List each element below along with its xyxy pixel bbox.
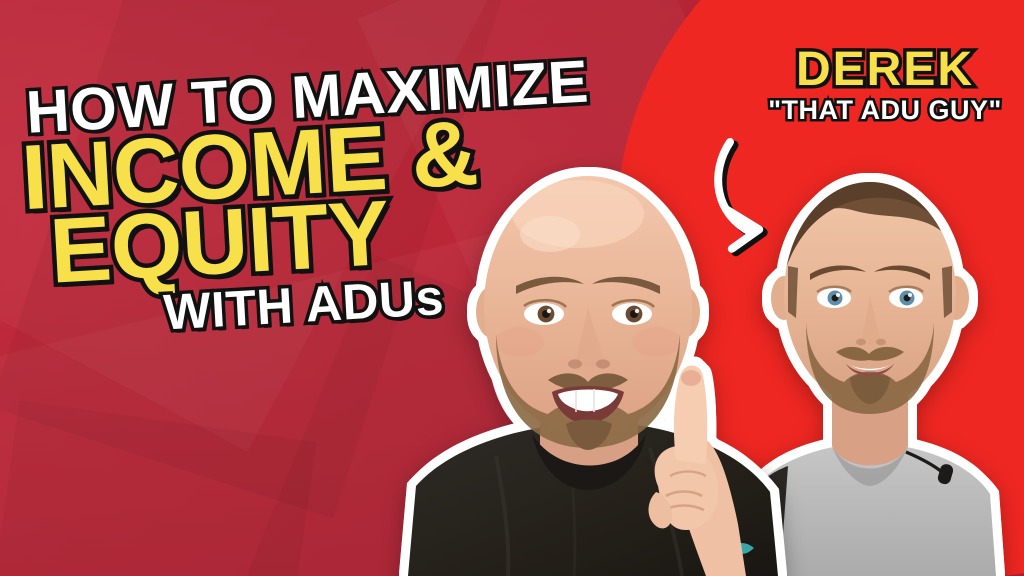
guest-name-callout: DEREK "THAT ADU GUY" <box>742 46 1024 124</box>
youtube-thumbnail: HOW TO MAXIMIZE INCOME & EQUITY WITH ADU… <box>0 0 1024 576</box>
guest-nickname: "THAT ADU GUY" <box>742 96 1024 124</box>
curved-arrow-icon <box>700 128 870 268</box>
guest-name: DEREK <box>742 46 1024 94</box>
